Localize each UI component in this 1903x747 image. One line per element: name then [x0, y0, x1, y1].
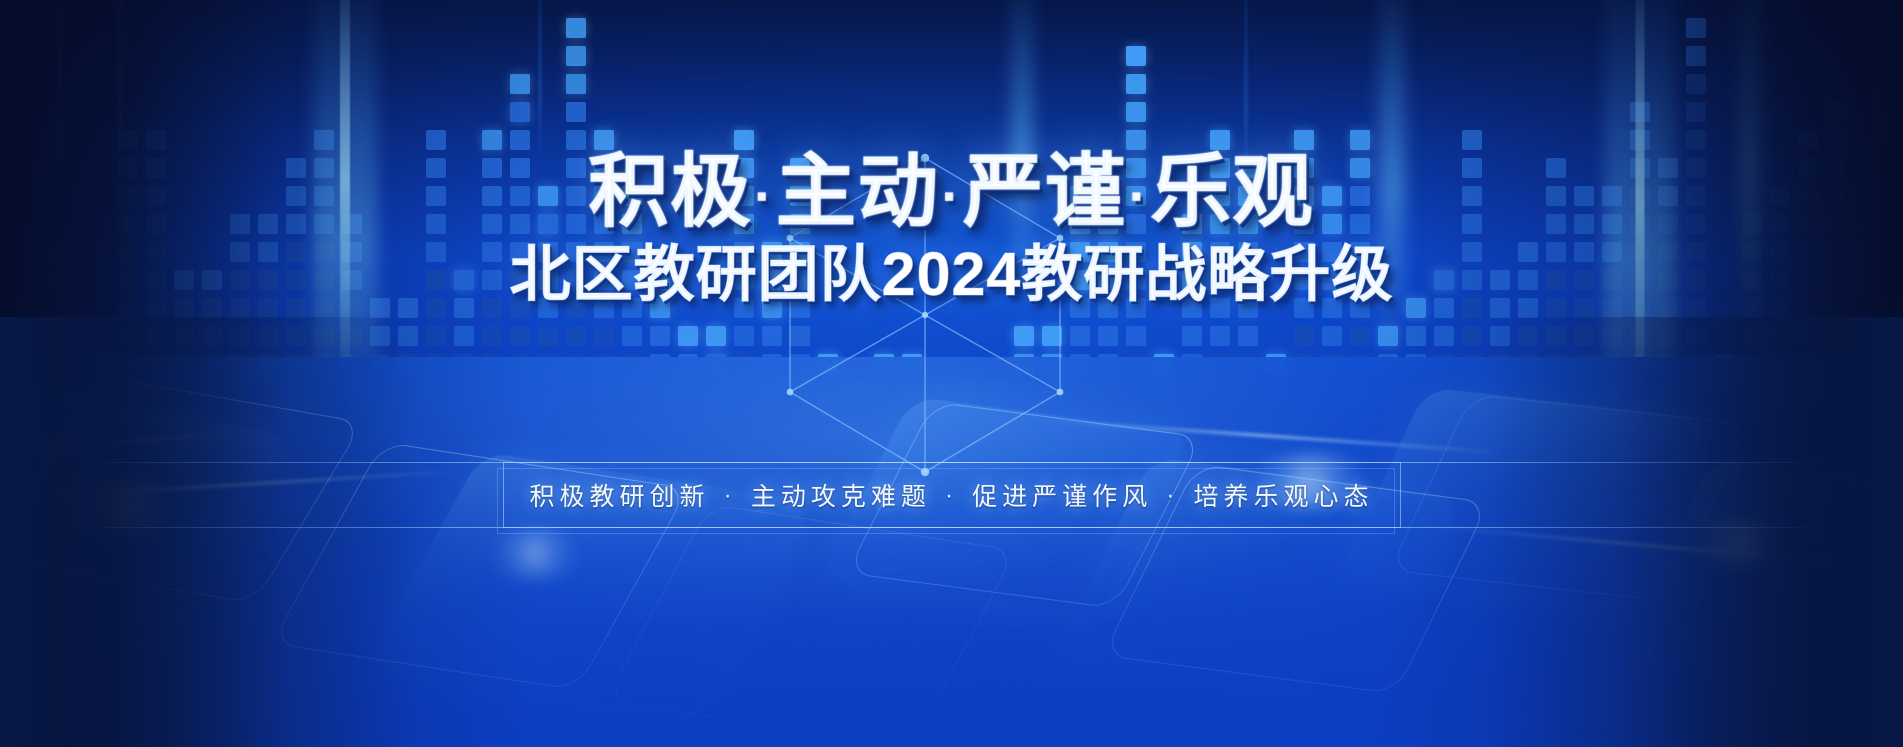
tagline-separator: ·: [931, 481, 972, 510]
tagline-item-2: 主动攻克难题: [751, 477, 931, 513]
page-subtitle: 北区教研团队2024教研战略升级: [0, 241, 1903, 308]
headline-separator: ·: [753, 168, 776, 226]
tagline-item-4: 培养乐观心态: [1194, 477, 1374, 513]
headline-separator: ·: [940, 168, 963, 226]
tagline-separator: ·: [709, 481, 750, 510]
tagline-strip: 积极教研创新·主动攻克难题·促进严谨作风·培养乐观心态: [503, 462, 1401, 528]
headline-word-2: 主动: [776, 147, 940, 236]
tagline-item-3: 促进严谨作风: [972, 477, 1152, 513]
headline-separator: ·: [1127, 168, 1150, 226]
page-title: 积极·主动·严谨·乐观: [0, 150, 1903, 235]
headline-word-1: 积极: [589, 147, 753, 236]
tagline-item-1: 积极教研创新: [529, 477, 709, 513]
headline-word-4: 乐观: [1150, 147, 1314, 236]
tagline-text: 积极教研创新·主动攻克难题·促进严谨作风·培养乐观心态: [503, 462, 1401, 528]
copy-block: 积极·主动·严谨·乐观 北区教研团队2024教研战略升级: [0, 150, 1903, 308]
banner-root: 积极·主动·严谨·乐观 北区教研团队2024教研战略升级 积极教研创新·主动攻克…: [0, 0, 1903, 747]
tagline-separator: ·: [1152, 481, 1193, 510]
headline-word-3: 严谨: [963, 147, 1127, 236]
